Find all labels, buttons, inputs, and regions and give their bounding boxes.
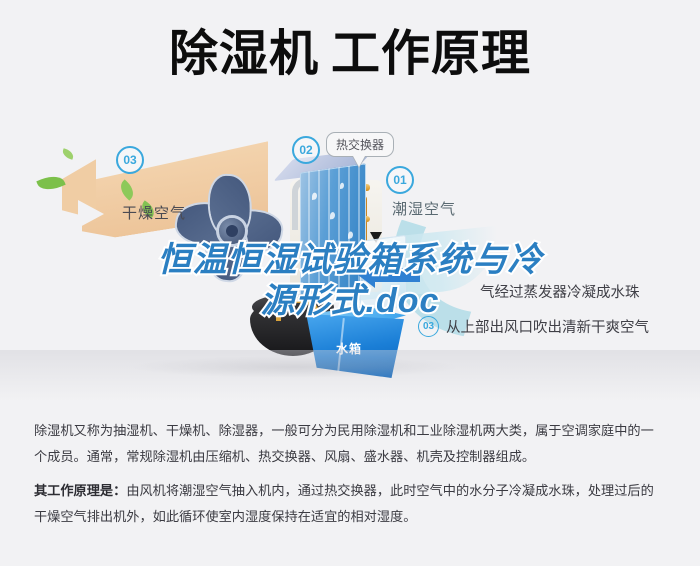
evaporator-icon (300, 163, 366, 296)
condensate-droplet-icon (330, 212, 335, 220)
legend-item: 03 从上部出风口吹出清新干爽空气 (418, 316, 688, 337)
body-paragraph-1: 除湿机又称为抽湿机、干燥机、除湿器，一般可分为民用除湿机和工业除湿机两大类，属于… (34, 418, 666, 469)
fan-icon (185, 178, 297, 282)
badge-03: 03 (116, 146, 144, 174)
body-paragraph-2: 其工作原理是：由风机将潮湿空气抽入机内，通过热交换器，此时空气中的水分子冷凝成水… (34, 478, 666, 529)
legend-number: 03 (418, 316, 439, 337)
badge-01: 01 (386, 166, 414, 194)
illustration-stage: 水箱 03 02 01 干燥空气 潮湿空气 热交换器 01 潮湿空气由下部进风口… (0, 118, 700, 400)
body-text: 除湿机又称为抽湿机、干燥机、除湿器，一般可分为民用除湿机和工业除湿机两大类，属于… (34, 418, 666, 539)
leaf-icon (36, 172, 65, 195)
condensate-droplet-icon (340, 182, 344, 189)
condensate-droplet-icon (312, 192, 317, 200)
page-root: 除湿机工作原理 (0, 0, 700, 566)
evaporator-fin-icon (328, 168, 330, 292)
legend-item: 02 气经过蒸发器冷凝成水珠 (452, 281, 688, 302)
evaporator-fin-icon (308, 171, 310, 295)
evaporator-fin-icon (348, 166, 350, 290)
title-text: 除湿机工作原理 (169, 30, 531, 79)
body-paragraph-2-rest: 由风机将潮湿空气抽入机内，通过热交换器，此时空气中的水分子冷凝成水珠，处理过后的… (34, 483, 654, 524)
legend-list: 01 潮湿空气由下部进风口吸入 02 气经过蒸发器冷凝成水珠 03 从上部出风口… (418, 246, 688, 351)
fan-hub-center-icon (226, 225, 238, 237)
condensate-droplet-icon (348, 231, 353, 239)
leaf-icon (61, 148, 75, 160)
evaporator-fin-icon (318, 170, 320, 294)
legend-text: 气经过蒸发器冷凝成水珠 (480, 281, 640, 302)
air-inlet-arrow-icon (372, 268, 420, 282)
legend-text: 从上部出风口吹出清新干爽空气 (446, 316, 649, 337)
condensate-droplet-icon (320, 255, 325, 263)
ground-band (0, 350, 700, 400)
heat-exchanger-callout: 热交换器 (326, 132, 394, 157)
dry-air-label: 干燥空气 (122, 202, 186, 223)
air-inlet-arrow-head-icon (358, 262, 375, 288)
title-part1: 除湿机 (169, 27, 319, 81)
humid-air-label: 潮湿空气 (392, 198, 456, 219)
body-paragraph-2-lead: 其工作原理是： (34, 483, 126, 498)
badge-02: 02 (292, 136, 320, 164)
page-title: 除湿机工作原理 (0, 18, 700, 90)
title-part2: 工作原理 (331, 27, 531, 81)
